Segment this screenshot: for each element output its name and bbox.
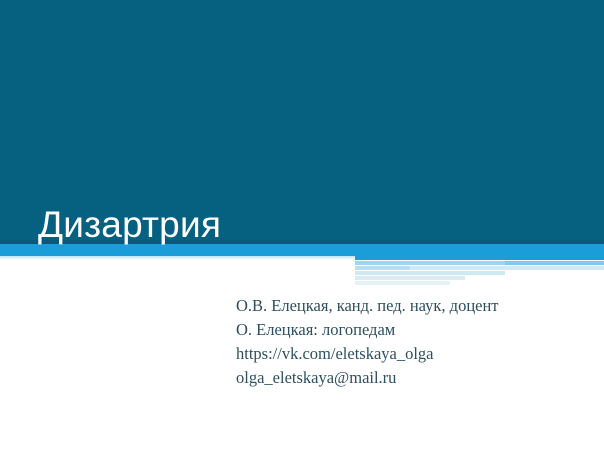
subtitle-line-email: olga_eletskaya@mail.ru (236, 366, 586, 390)
decorative-stripe (505, 261, 604, 265)
subtitle-line-author: О.В. Елецкая, канд. пед. наук, доцент (236, 294, 586, 318)
subtitle-line-url: https://vk.com/eletskaya_olga (236, 342, 586, 366)
decorative-stripes (0, 256, 604, 286)
decorative-stripe (355, 281, 450, 285)
slide-title: Дизартрия (38, 206, 221, 245)
decorative-stripe (355, 276, 465, 280)
decorative-stripe (355, 261, 505, 265)
subtitle-line-group: О. Елецкая: логопедам (236, 318, 586, 342)
accent-band (0, 244, 604, 256)
decorative-stripe (355, 256, 604, 260)
slide-subtitle-block: О.В. Елецкая, канд. пед. наук, доцент О.… (236, 294, 586, 390)
decorative-stripe (355, 266, 410, 270)
decorative-stripe (355, 271, 505, 275)
presentation-slide: Дизартрия О.В. Елецкая, канд. пед. наук,… (0, 0, 604, 453)
